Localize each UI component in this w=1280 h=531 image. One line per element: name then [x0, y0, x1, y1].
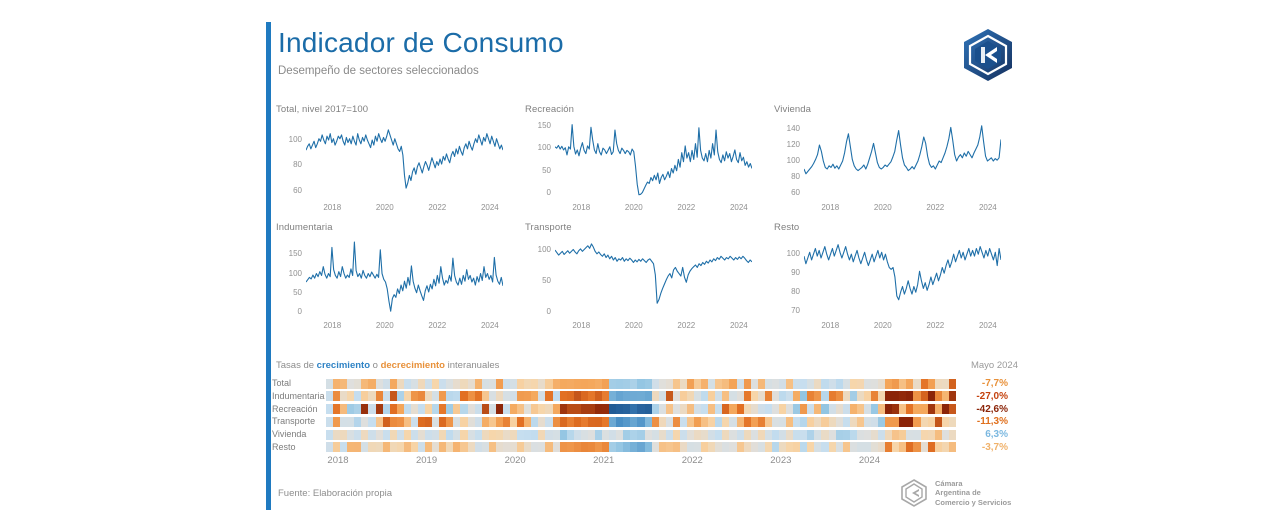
heatmap-cell: [545, 417, 552, 427]
y-tick-label: 100: [272, 136, 302, 144]
heatmap-cell: [538, 379, 545, 389]
heatmap-cell: [779, 379, 786, 389]
heatmap-cell: [701, 417, 708, 427]
heatmap-cell: [340, 442, 347, 452]
heatmap-cell: [531, 417, 538, 427]
heatmap-cell: [404, 430, 411, 440]
heatmap-cell: [800, 404, 807, 414]
heatmap-cell: [836, 379, 843, 389]
panel-plot: [306, 239, 503, 315]
heatmap-cell: [652, 442, 659, 452]
heatmap-cell: [800, 417, 807, 427]
source-note: Fuente: Elaboración propia: [278, 488, 392, 499]
heatmap-cell: [751, 442, 758, 452]
heatmap-cell: [645, 430, 652, 440]
y-tick-label: 150: [521, 122, 551, 130]
heatmap-cell: [652, 417, 659, 427]
x-tick-label: 2024: [971, 204, 1005, 212]
heatmap-cell: [921, 404, 928, 414]
heatmap-row-label: Recreación: [272, 404, 326, 415]
heatmap-cell: [347, 417, 354, 427]
heatmap-cell: [383, 404, 390, 414]
heatmap-cell: [729, 404, 736, 414]
heatmap-cell: [637, 430, 644, 440]
x-tick-label: 2018: [315, 204, 349, 212]
heatmap-cell: [630, 391, 637, 401]
heatmap-cell: [871, 391, 878, 401]
heatmap-row-value: -7,7%: [956, 378, 1008, 389]
heatmap-cell: [765, 379, 772, 389]
heatmap-cell: [807, 391, 814, 401]
heatmap-cell: [637, 404, 644, 414]
heatmap-cell: [354, 430, 361, 440]
heatmap-cell: [390, 430, 397, 440]
heatmap-cell: [602, 391, 609, 401]
heatmap-cell: [496, 442, 503, 452]
heatmap-cell: [814, 442, 821, 452]
heatmap-cell: [659, 379, 666, 389]
heatmap-cell: [404, 442, 411, 452]
x-tick-label: 2022: [669, 322, 703, 330]
heatmap-cell: [418, 391, 425, 401]
heatmap-cell: [581, 404, 588, 414]
heatmap-cell: [390, 417, 397, 427]
panel-title: Total, nivel 2017=100: [276, 104, 368, 115]
heatmap-cell: [524, 379, 531, 389]
heatmap-cell: [383, 417, 390, 427]
heatmap-cell: [567, 430, 574, 440]
heatmap-cell: [411, 391, 418, 401]
heatmap-row-value: -11,3%: [956, 416, 1008, 427]
y-tick-label: 90: [770, 269, 800, 277]
heatmap-cell: [673, 404, 680, 414]
x-tick-label: 2020: [617, 322, 651, 330]
heatmap-cell: [439, 404, 446, 414]
heatmap-cell: [574, 404, 581, 414]
panel-vivienda: Vivienda60801001201402018202020222024: [770, 104, 1019, 222]
heatmap-cell: [411, 379, 418, 389]
y-tick-label: 100: [770, 250, 800, 258]
heatmap-x-tick: 2022: [682, 455, 703, 466]
heatmap-cell: [892, 391, 899, 401]
heatmap-cell: [531, 379, 538, 389]
heatmap-cell: [715, 430, 722, 440]
heatmap-cell: [687, 442, 694, 452]
heatmap-cell: [829, 417, 836, 427]
heatmap-cell: [807, 417, 814, 427]
heatmap-cell: [935, 430, 942, 440]
heatmap-cell: [765, 430, 772, 440]
heatmap-row-label: Transporte: [272, 416, 326, 427]
heatmap-cell: [829, 391, 836, 401]
heatmap-cell: [899, 404, 906, 414]
heatmap-cell: [935, 442, 942, 452]
y-tick-label: 80: [770, 288, 800, 296]
panel-plot: [804, 239, 1001, 315]
heatmap-cell: [503, 442, 510, 452]
heatmap-cell: [821, 404, 828, 414]
x-tick-label: 2018: [813, 204, 847, 212]
x-tick-label: 2022: [420, 322, 454, 330]
y-tick-label: 100: [521, 246, 551, 254]
heatmap-cell: [701, 404, 708, 414]
heatmap-cell: [425, 404, 432, 414]
heatmap-cell: [737, 404, 744, 414]
heatmap-cell: [652, 404, 659, 414]
panel-title: Resto: [774, 222, 799, 233]
heatmap-cell: [722, 391, 729, 401]
heatmap-cell: [453, 442, 460, 452]
heatmap-cell: [524, 442, 531, 452]
y-tick-label: 70: [770, 307, 800, 315]
heatmap-cell: [878, 430, 885, 440]
heatmap-cell: [453, 430, 460, 440]
heatmap-cell: [935, 417, 942, 427]
heatmap-cell: [489, 391, 496, 401]
heatmap-cell: [687, 430, 694, 440]
header: Indicador de Consumo Desempeño de sector…: [278, 26, 564, 78]
heatmap-cell: [836, 404, 843, 414]
heatmap-cell: [460, 417, 467, 427]
heatmap-cell: [446, 379, 453, 389]
heatmap-cell: [376, 417, 383, 427]
heatmap-cell: [652, 430, 659, 440]
heatmap-cell: [475, 430, 482, 440]
heatmap-cell: [545, 430, 552, 440]
heatmap-cell: [361, 442, 368, 452]
heatmap-cell: [489, 430, 496, 440]
heatmap-cell: [942, 404, 949, 414]
heatmap-cell: [482, 430, 489, 440]
heatmap-cell: [361, 391, 368, 401]
x-tick-label: 2022: [918, 204, 952, 212]
x-tick-label: 2024: [473, 322, 507, 330]
heatmap-cell: [545, 391, 552, 401]
panel-title: Transporte: [525, 222, 572, 233]
heatmap-cell: [368, 379, 375, 389]
heatmap-cell: [864, 379, 871, 389]
heatmap-cell: [439, 430, 446, 440]
heatmap-cell: [510, 391, 517, 401]
heatmap-cell: [517, 417, 524, 427]
heatmap-cell: [751, 404, 758, 414]
caption-prefix: Tasas de: [276, 360, 317, 371]
heatmap-row-label: Indumentaria: [272, 391, 326, 402]
heatmap-cell: [517, 442, 524, 452]
heatmap-cell: [368, 391, 375, 401]
heatmap-cell: [390, 379, 397, 389]
heatmap-cell: [588, 391, 595, 401]
heatmap-cell: [475, 404, 482, 414]
heatmap-cell: [517, 430, 524, 440]
heatmap-cell: [814, 404, 821, 414]
y-tick-label: 50: [521, 167, 551, 175]
heatmap-cell: [637, 417, 644, 427]
heatmap-cell: [574, 391, 581, 401]
heatmap-cell: [836, 391, 843, 401]
heatmap-cell: [538, 430, 545, 440]
heatmap-cell: [538, 391, 545, 401]
heatmap-cell: [588, 404, 595, 414]
heatmap-cell: [921, 430, 928, 440]
heatmap-cell: [687, 391, 694, 401]
y-tick-label: 50: [521, 277, 551, 285]
heatmap-cell: [829, 404, 836, 414]
heatmap-cell: [687, 417, 694, 427]
heatmap-cell: [560, 442, 567, 452]
logo-line-1: Cámara: [935, 479, 1011, 489]
heatmap-cell: [850, 430, 857, 440]
heatmap-cell: [949, 404, 956, 414]
heatmap-cell: [361, 379, 368, 389]
heatmap-cell: [510, 404, 517, 414]
heatmap-cell: [652, 379, 659, 389]
panel-total: Total, nivel 2017=1006080100201820202022…: [272, 104, 521, 222]
heatmap-cell: [333, 430, 340, 440]
heatmap-cell: [758, 430, 765, 440]
heatmap-cell: [623, 417, 630, 427]
heatmap-cell: [928, 442, 935, 452]
heatmap-cell: [560, 417, 567, 427]
heatmap-cell: [333, 442, 340, 452]
heatmap-cell: [744, 391, 751, 401]
heatmap-cell: [864, 417, 871, 427]
heatmap-cell: [921, 379, 928, 389]
heatmap-cell: [637, 442, 644, 452]
heatmap-cell: [765, 442, 772, 452]
heatmap-cell: [567, 442, 574, 452]
heatmap-cell: [652, 391, 659, 401]
heatmap-cell: [326, 417, 333, 427]
heatmap-cell: [326, 430, 333, 440]
heatmap-cell: [425, 391, 432, 401]
caption-middle: o: [370, 360, 381, 371]
heatmap-cell: [383, 379, 390, 389]
heatmap-cell: [701, 391, 708, 401]
heatmap-strip: [326, 442, 956, 452]
heatmap-cell: [503, 404, 510, 414]
heatmap-strip: [326, 379, 956, 389]
heatmap-cell: [446, 430, 453, 440]
heatmap-cell: [460, 430, 467, 440]
heatmap-cell: [425, 417, 432, 427]
heatmap-cell: [616, 379, 623, 389]
heatmap-row: Total-7,7%: [272, 378, 1020, 390]
x-tick-label: 2020: [368, 322, 402, 330]
page-subtitle: Desempeño de sectores seleccionados: [278, 64, 564, 78]
heatmap-cell: [850, 404, 857, 414]
x-tick-label: 2020: [617, 204, 651, 212]
heatmap-rows: Total-7,7%Indumentaria-27,0%Recreación-4…: [272, 378, 1020, 454]
heatmap-cell: [595, 442, 602, 452]
heatmap-cell: [885, 417, 892, 427]
heatmap-cell: [609, 379, 616, 389]
heatmap-cell: [453, 404, 460, 414]
heatmap-cell: [609, 404, 616, 414]
heatmap-cell: [630, 430, 637, 440]
heatmap-cell: [885, 404, 892, 414]
heatmap-cell: [489, 417, 496, 427]
heatmap-cell: [623, 379, 630, 389]
heatmap-cell: [673, 430, 680, 440]
heatmap-cell: [616, 417, 623, 427]
heatmap-cell: [397, 430, 404, 440]
x-tick-label: 2018: [315, 322, 349, 330]
heatmap-cell: [708, 404, 715, 414]
heatmap-cell: [326, 379, 333, 389]
heatmap-cell: [411, 417, 418, 427]
heatmap-cell: [595, 404, 602, 414]
heatmap-cell: [340, 391, 347, 401]
heatmap-cell: [878, 404, 885, 414]
heatmap-cell: [871, 379, 878, 389]
heatmap-cell: [588, 417, 595, 427]
heatmap-cell: [340, 379, 347, 389]
panel-plot: [804, 121, 1001, 197]
heatmap-cell: [347, 404, 354, 414]
heatmap-cell: [680, 404, 687, 414]
heatmap-cell: [744, 379, 751, 389]
heatmap-cell: [496, 391, 503, 401]
heatmap-cell: [793, 442, 800, 452]
heatmap-cell: [921, 417, 928, 427]
heatmap-cell: [468, 404, 475, 414]
heatmap-cell: [659, 391, 666, 401]
heatmap-cell: [722, 379, 729, 389]
heatmap-cell: [786, 379, 793, 389]
heatmap-cell: [475, 391, 482, 401]
heatmap-cell: [793, 379, 800, 389]
heatmap-cell: [503, 417, 510, 427]
heatmap-cell: [524, 391, 531, 401]
heatmap-cell: [553, 404, 560, 414]
heatmap-cell: [885, 379, 892, 389]
heatmap-cell: [871, 417, 878, 427]
heatmap-cell: [878, 379, 885, 389]
heatmap-cell: [800, 391, 807, 401]
heatmap-x-tick: 2021: [593, 455, 614, 466]
heatmap-cell: [411, 430, 418, 440]
heatmap-cell: [602, 417, 609, 427]
heatmap-cell: [821, 379, 828, 389]
heatmap-cell: [701, 430, 708, 440]
heatmap-cell: [553, 430, 560, 440]
heatmap-cell: [758, 404, 765, 414]
heatmap-cell: [793, 404, 800, 414]
heatmap-cell: [715, 417, 722, 427]
heatmap-cell: [949, 379, 956, 389]
heatmap-cell: [949, 391, 956, 401]
heatmap-cell: [722, 417, 729, 427]
heatmap-cell: [666, 391, 673, 401]
y-tick-label: 50: [272, 289, 302, 297]
heatmap-cell: [673, 442, 680, 452]
heatmap-cell: [857, 391, 864, 401]
heatmap-cell: [779, 404, 786, 414]
heatmap-cell: [645, 379, 652, 389]
heatmap-cell: [864, 391, 871, 401]
heatmap-cell: [616, 442, 623, 452]
heatmap-cell: [361, 417, 368, 427]
heatmap-cell: [390, 404, 397, 414]
heatmap-row: Transporte-11,3%: [272, 416, 1020, 428]
heatmap-cell: [609, 391, 616, 401]
heatmap-cell: [602, 379, 609, 389]
heatmap-cell: [744, 417, 751, 427]
heatmap-cell: [659, 442, 666, 452]
heatmap-cell: [935, 404, 942, 414]
heatmap-cell: [722, 442, 729, 452]
panel-title: Vivienda: [774, 104, 811, 115]
x-tick-label: 2020: [866, 204, 900, 212]
heatmap-cell: [524, 404, 531, 414]
heatmap-cell: [878, 417, 885, 427]
heatmap-cell: [906, 379, 913, 389]
heatmap-cell: [772, 404, 779, 414]
heatmap-cell: [829, 442, 836, 452]
heatmap-cell: [609, 417, 616, 427]
heatmap-cell: [871, 442, 878, 452]
heatmap-cell: [913, 379, 920, 389]
heatmap-cell: [418, 430, 425, 440]
heatmap-cell: [843, 379, 850, 389]
heatmap-cell: [786, 430, 793, 440]
heatmap-cell: [715, 379, 722, 389]
heatmap-cell: [376, 404, 383, 414]
heatmap-cell: [942, 430, 949, 440]
heatmap-cell: [595, 417, 602, 427]
heatmap-cell: [729, 379, 736, 389]
heatmap-cell: [326, 391, 333, 401]
heatmap-cell: [645, 391, 652, 401]
heatmap-cell: [616, 404, 623, 414]
heatmap-cell: [836, 417, 843, 427]
heatmap-cell: [560, 430, 567, 440]
heatmap-cell: [630, 417, 637, 427]
heatmap-cell: [694, 391, 701, 401]
page-title: Indicador de Consumo: [278, 26, 564, 60]
heatmap-cell: [680, 417, 687, 427]
cacs-hexagon-logo-icon: [957, 26, 1019, 84]
heatmap-cell: [913, 430, 920, 440]
heatmap-cell: [475, 442, 482, 452]
heatmap-cell: [411, 442, 418, 452]
heatmap-cell: [715, 442, 722, 452]
heatmap-cell: [694, 379, 701, 389]
heatmap-cell: [432, 417, 439, 427]
caption-decline: decrecimiento: [381, 360, 445, 371]
heatmap-cell: [368, 417, 375, 427]
heatmap-cell: [864, 404, 871, 414]
heatmap-cell: [645, 442, 652, 452]
x-tick-label: 2018: [564, 204, 598, 212]
heatmap-cell: [397, 379, 404, 389]
heatmap-cell: [574, 442, 581, 452]
heatmap-row: Recreación-42,6%: [272, 403, 1020, 415]
heatmap-cell: [942, 391, 949, 401]
heatmap-cell: [397, 391, 404, 401]
heatmap-cell: [899, 417, 906, 427]
heatmap-cell: [376, 430, 383, 440]
heatmap-cell: [574, 430, 581, 440]
heatmap-cell: [616, 430, 623, 440]
heatmap-strip: [326, 404, 956, 414]
heatmap-cell: [439, 417, 446, 427]
heatmap-cell: [404, 391, 411, 401]
heatmap-cell: [807, 430, 814, 440]
heatmap-cell: [680, 430, 687, 440]
heatmap-cell: [489, 379, 496, 389]
